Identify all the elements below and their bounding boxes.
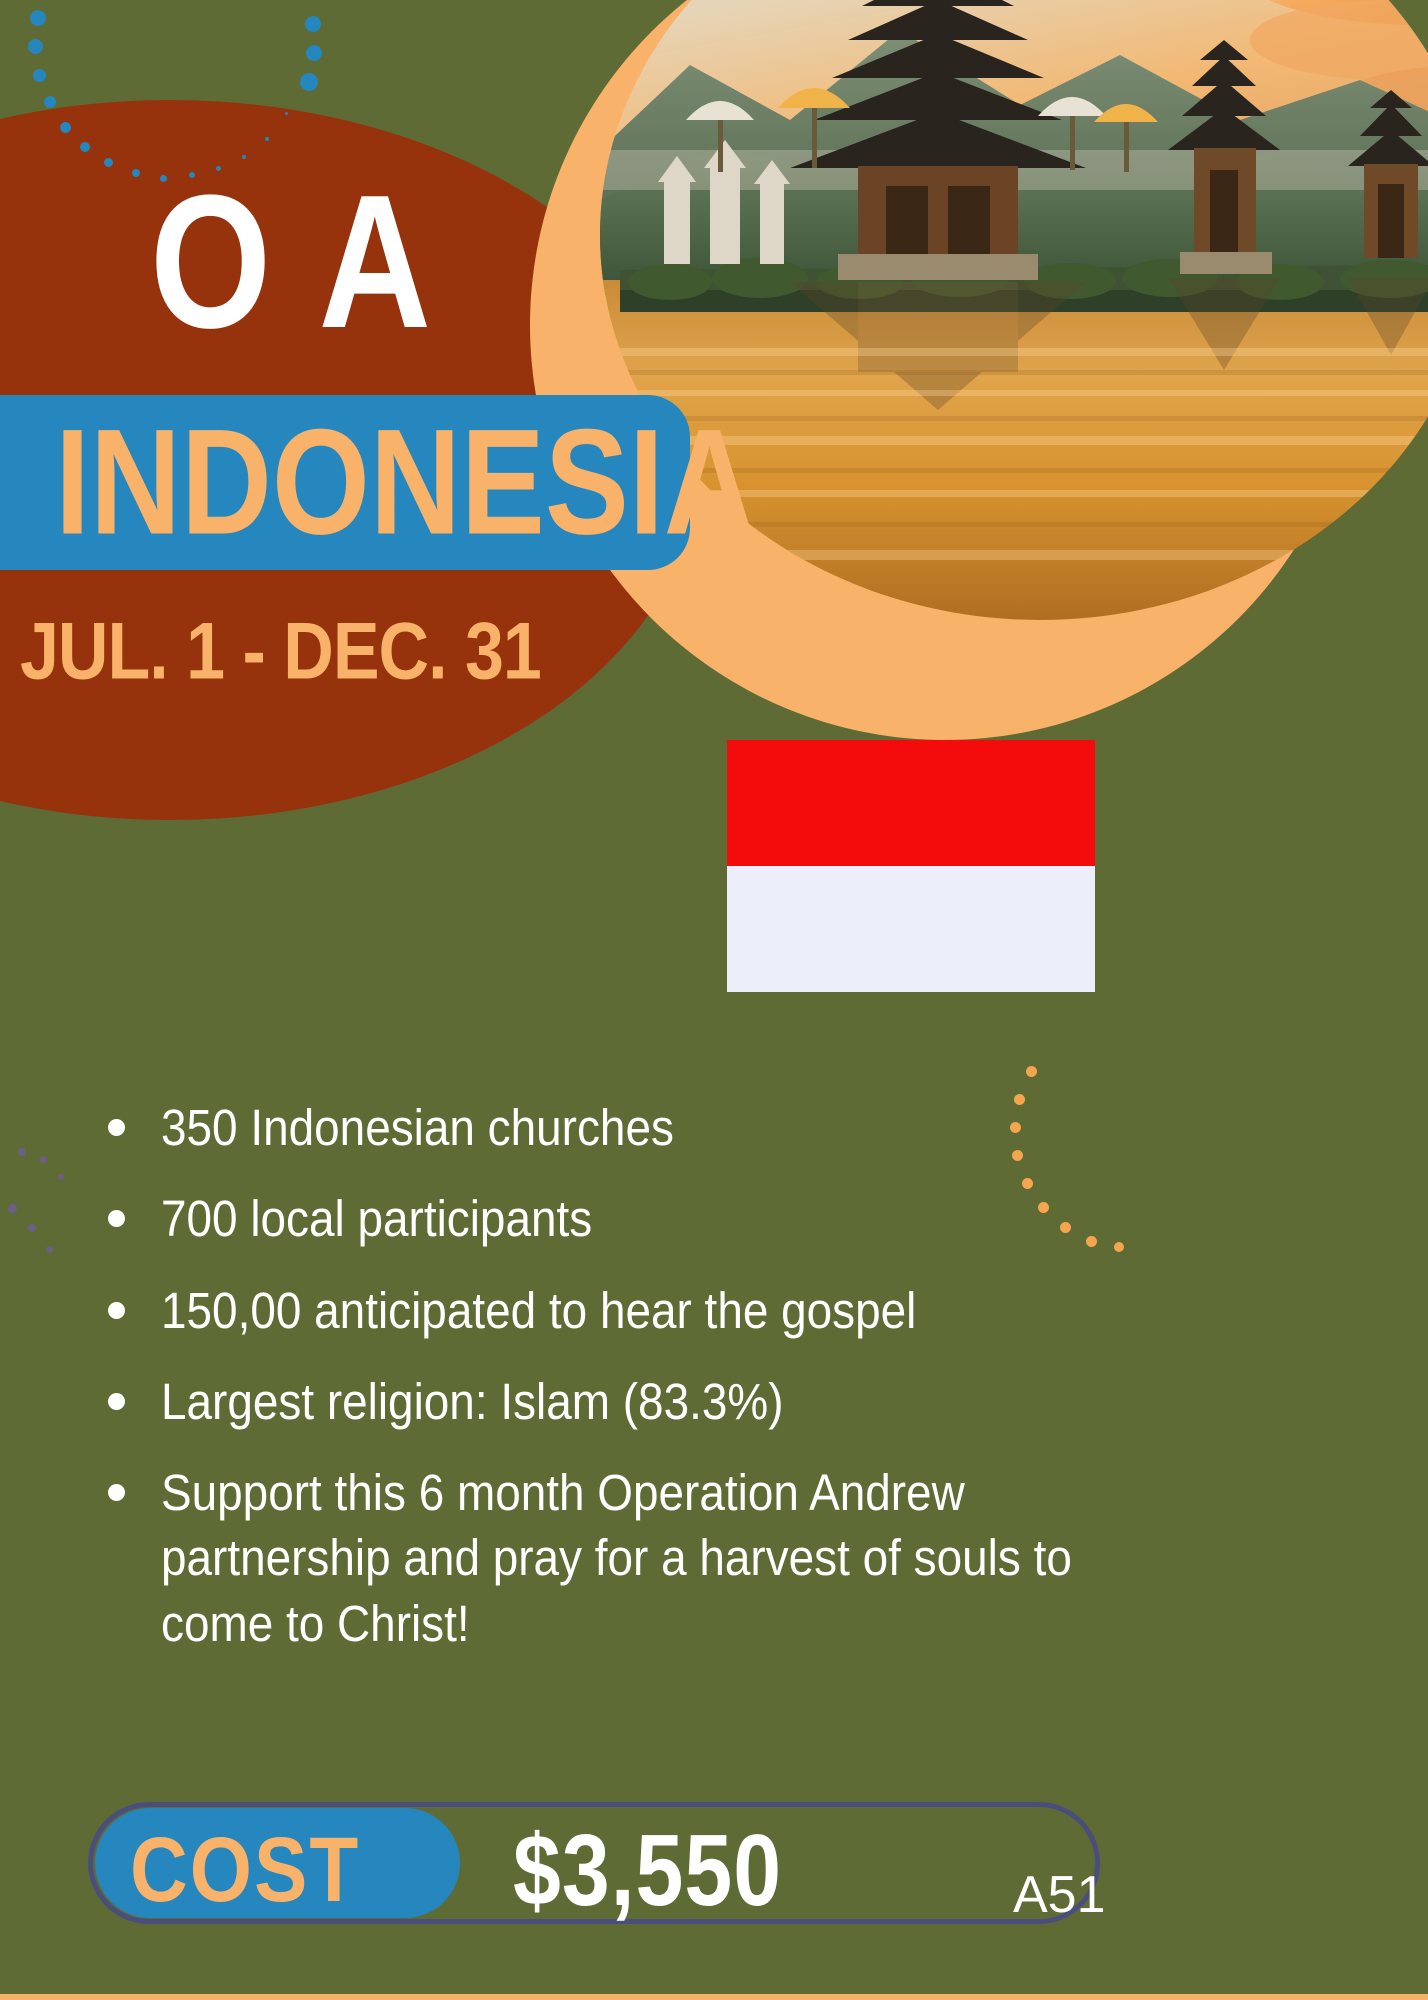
bullet-point-icon <box>108 1393 125 1410</box>
flag-white-band <box>727 866 1095 992</box>
list-item: 150,00 anticipated to hear the gospel <box>108 1278 1188 1343</box>
list-item: Largest religion: Islam (83.3%) <box>108 1369 1188 1434</box>
date-range: JUL. 1 - DEC. 31 <box>20 605 541 697</box>
list-item-label: 150,00 anticipated to hear the gospel <box>161 1278 1085 1343</box>
country-name: INDONESIA <box>55 408 755 558</box>
bottom-accent-strip <box>0 1994 1428 2000</box>
list-item-label: 700 local participants <box>161 1186 1085 1251</box>
list-item-label: 350 Indonesian churches <box>161 1095 1085 1160</box>
bullet-point-icon <box>108 1302 125 1319</box>
program-abbreviation: O A <box>150 175 436 350</box>
bullet-point-icon <box>108 1484 125 1501</box>
list-item: 700 local participants <box>108 1186 1188 1251</box>
facts-list: 350 Indonesian churches 700 local partic… <box>108 1095 1188 1682</box>
list-item-label: Support this 6 month Operation Andrew pa… <box>161 1460 1085 1656</box>
reference-code: A51 <box>1013 1865 1106 1925</box>
poster-canvas: O A INDONESIA JUL. 1 - DEC. 31 <box>0 0 1428 2000</box>
bullet-point-icon <box>108 1210 125 1227</box>
list-item-label: Largest religion: Islam (83.3%) <box>161 1369 1085 1434</box>
list-item: 350 Indonesian churches <box>108 1095 1188 1160</box>
bullet-point-icon <box>108 1119 125 1136</box>
cost-amount: $3,550 <box>513 1813 782 1930</box>
flag-red-band <box>727 740 1095 866</box>
cost-label: COST <box>130 1817 360 1923</box>
purple-dot-arc-decoration <box>0 1140 120 1340</box>
list-item: Support this 6 month Operation Andrew pa… <box>108 1460 1188 1656</box>
indonesia-flag <box>727 740 1095 992</box>
